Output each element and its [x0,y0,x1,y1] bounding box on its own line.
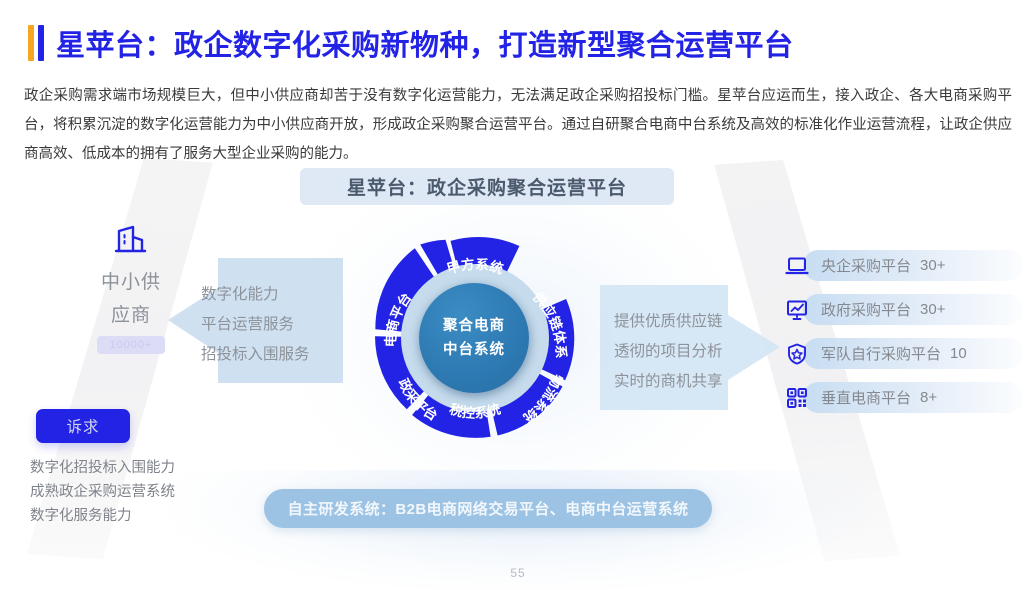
demand-list: 数字化招投标入围能力 成熟政企采购运营系统 数字化服务能力 [30,456,175,528]
arrow-right-line-3: 实时的商机共享 [614,367,723,397]
accent-bar-orange [28,25,34,61]
donut-diagram: 甲方系统 供应链体系 物流系统 税控系统 政采平台 电商平台 聚合电商 中台系统 [350,213,600,463]
bottom-banner: 自主研发系统：B2B电商网络交易平台、电商中台运营系统 [264,489,712,528]
demand-pill[interactable]: 诉求 [36,409,130,443]
supplier-block: 中小供 应商 10000+ [86,218,176,354]
platform-count-2: 30+ [920,301,945,318]
platform-count-3: 10 [950,345,967,362]
arrow-left-line-1: 数字化能力 [201,280,310,310]
arrow-right: 提供优质供应链 透彻的项目分析 实时的商机共享 [600,285,780,410]
platform-list: 央企采购平台 30+ 政府采购平台 30+ [783,250,1023,426]
supplier-label-line-2: 应商 [86,302,176,329]
platform-banner: 星苹台：政企采购聚合运营平台 [300,168,674,205]
title-accent-bars [28,24,44,62]
demand-item-3: 数字化服务能力 [30,504,175,528]
platform-name-3: 军队自行采购平台 [821,343,941,364]
hub-line-2: 中台系统 [443,338,505,362]
platform-name-4: 垂直电商平台 [821,387,911,408]
page-title: 星苹台：政企数字化采购新物种，打造新型聚合运营平台 [56,22,794,64]
arrow-right-text: 提供优质供应链 透彻的项目分析 实时的商机共享 [614,307,723,397]
slide-canvas: 星苹台：政企数字化采购新物种，打造新型聚合运营平台 政企采购需求端市场规模巨大，… [0,0,1036,584]
platform-name-1: 央企采购平台 [821,255,911,276]
arrow-left-line-3: 招投标入围服务 [201,340,310,370]
demand-item-1: 数字化招投标入围能力 [30,456,175,480]
platform-row-1[interactable]: 央企采购平台 30+ [783,250,1023,281]
platform-count-1: 30+ [920,257,945,274]
arrow-left-line-2: 平台运营服务 [201,310,310,340]
arrow-left: 数字化能力 平台运营服务 招投标入围服务 [168,258,343,383]
platform-row-4[interactable]: 垂直电商平台 8+ [783,382,1023,413]
donut-hub: 聚合电商 中台系统 [419,283,529,393]
presentation-icon [783,298,811,322]
page-number: 55 [0,566,1036,580]
accent-bar-blue [38,25,44,61]
demand-item-2: 成熟政企采购运营系统 [30,480,175,504]
shield-star-icon [783,342,811,366]
arrow-right-line-1: 提供优质供应链 [614,307,723,337]
demand-pill-label: 诉求 [66,415,99,437]
arrow-right-line-2: 透彻的项目分析 [614,337,723,367]
bottom-banner-label: 自主研发系统：B2B电商网络交易平台、电商中台运营系统 [288,498,689,519]
platform-row-2[interactable]: 政府采购平台 30+ [783,294,1023,325]
laptop-icon [783,254,811,278]
platform-count-4: 8+ [920,389,937,406]
page-title-row: 星苹台：政企数字化采购新物种，打造新型聚合运营平台 [28,22,794,64]
hub-line-1: 聚合电商 [443,314,505,338]
qrcode-icon [783,386,811,410]
platform-banner-label: 星苹台：政企采购聚合运营平台 [347,173,627,200]
factory-icon [86,218,176,263]
platform-row-3[interactable]: 军队自行采购平台 10 [783,338,1023,369]
supplier-count-badge: 10000+ [97,336,164,354]
arrow-left-text: 数字化能力 平台运营服务 招投标入围服务 [201,280,310,370]
supplier-label-line-1: 中小供 [86,269,176,296]
intro-paragraph: 政企采购需求端市场规模巨大，但中小供应商却苦于没有数字化运营能力，无法满足政企采… [24,82,1012,169]
platform-name-2: 政府采购平台 [821,299,911,320]
